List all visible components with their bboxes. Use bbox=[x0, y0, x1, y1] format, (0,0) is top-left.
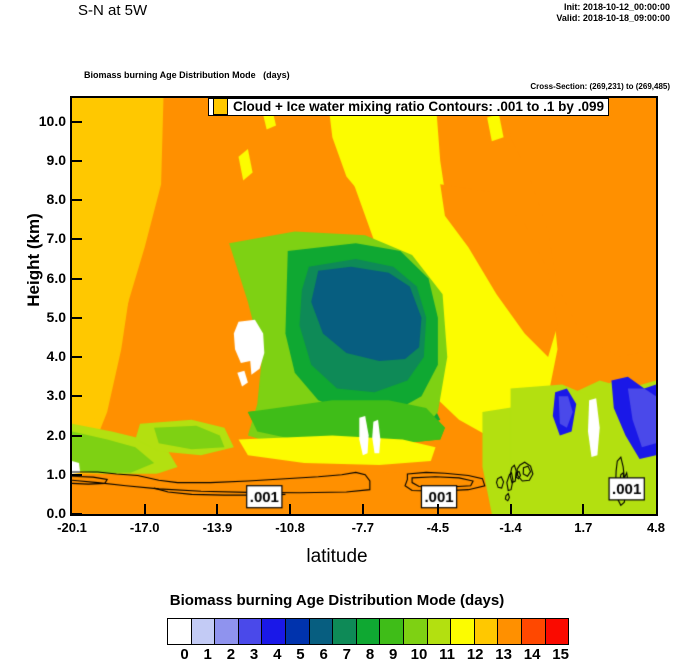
colorbar-swatch bbox=[428, 619, 452, 644]
colorbar-tick: 0 bbox=[179, 646, 190, 666]
colorbar-swatch bbox=[168, 619, 192, 644]
colorbar-tick: 11 bbox=[439, 646, 455, 666]
y-tick-mark bbox=[72, 356, 82, 358]
y-tick-mark bbox=[72, 395, 82, 397]
colorbar-tick: 8 bbox=[364, 646, 375, 666]
colorbar-swatch bbox=[357, 619, 381, 644]
y-tick-mark bbox=[72, 238, 82, 240]
x-tick-label: -13.9 bbox=[187, 520, 247, 535]
x-tick-mark bbox=[437, 504, 439, 514]
y-tick-mark bbox=[72, 160, 82, 162]
colorbar-tick: 2 bbox=[225, 646, 236, 666]
colorbar-tick: 15 bbox=[552, 646, 569, 666]
colorbar-swatch bbox=[286, 619, 310, 644]
colorbar-swatch bbox=[451, 619, 475, 644]
colorbar-tick: 14 bbox=[524, 646, 541, 666]
contour-title-box: Cloud + Ice water mixing ratio Contours:… bbox=[208, 98, 609, 116]
contour-title-label: Cloud + Ice water mixing ratio Contours:… bbox=[233, 99, 604, 114]
colorbar-title: Biomass burning Age Distribution Mode (d… bbox=[0, 592, 674, 609]
colorbar-swatch bbox=[310, 619, 334, 644]
x-tick-label: -10.8 bbox=[260, 520, 320, 535]
x-tick-mark bbox=[216, 504, 218, 514]
x-tick-label: -4.5 bbox=[408, 520, 468, 535]
y-axis-title: Height (km) bbox=[24, 180, 44, 340]
y-tick-mark bbox=[72, 435, 82, 437]
x-tick-label: -1.4 bbox=[481, 520, 541, 535]
colorbar-tick-labels: 0123456789101112131415 bbox=[167, 646, 569, 666]
colorbar-swatch bbox=[333, 619, 357, 644]
colorbar-swatch bbox=[239, 619, 263, 644]
x-tick-label: -17.0 bbox=[115, 520, 175, 535]
colorbar-tick: 6 bbox=[318, 646, 329, 666]
colorbar-swatch bbox=[262, 619, 286, 644]
colorbar-tick: 13 bbox=[495, 646, 512, 666]
x-tick-mark bbox=[289, 504, 291, 514]
colorbar bbox=[167, 618, 569, 645]
x-tick-mark bbox=[144, 504, 146, 514]
x-tick-label: 4.8 bbox=[626, 520, 674, 535]
colorbar-tick: 12 bbox=[467, 646, 484, 666]
colorbar-swatch bbox=[380, 619, 404, 644]
y-tick-mark bbox=[72, 199, 82, 201]
colorbar-swatch bbox=[475, 619, 499, 644]
y-tick-mark bbox=[72, 474, 82, 476]
colorbar-swatch bbox=[498, 619, 522, 644]
y-tick-mark bbox=[72, 513, 82, 515]
y-tick-mark bbox=[72, 317, 82, 319]
colorbar-swatch bbox=[522, 619, 546, 644]
y-tick-mark bbox=[72, 278, 82, 280]
x-axis-title: latitude bbox=[0, 546, 674, 568]
x-tick-mark bbox=[582, 504, 584, 514]
colorbar-tick: 5 bbox=[295, 646, 306, 666]
colorbar-tick: 10 bbox=[411, 646, 428, 666]
x-tick-label: 1.7 bbox=[553, 520, 613, 535]
colorbar-swatch bbox=[546, 619, 569, 644]
contour-color-swatch bbox=[213, 98, 228, 115]
colorbar-tick: 4 bbox=[272, 646, 283, 666]
colorbar-tick: 7 bbox=[341, 646, 352, 666]
colorbar-tick: 9 bbox=[387, 646, 398, 666]
colorbar-swatch bbox=[404, 619, 428, 644]
x-tick-label: -20.1 bbox=[42, 520, 102, 535]
x-tick-mark bbox=[362, 504, 364, 514]
colorbar-tick: 1 bbox=[202, 646, 213, 666]
colorbar-swatch bbox=[192, 619, 216, 644]
colorbar-tick: 3 bbox=[248, 646, 259, 666]
x-tick-mark bbox=[510, 504, 512, 514]
x-tick-label: -7.7 bbox=[333, 520, 393, 535]
colorbar-swatch bbox=[215, 619, 239, 644]
y-tick-mark bbox=[72, 121, 82, 123]
